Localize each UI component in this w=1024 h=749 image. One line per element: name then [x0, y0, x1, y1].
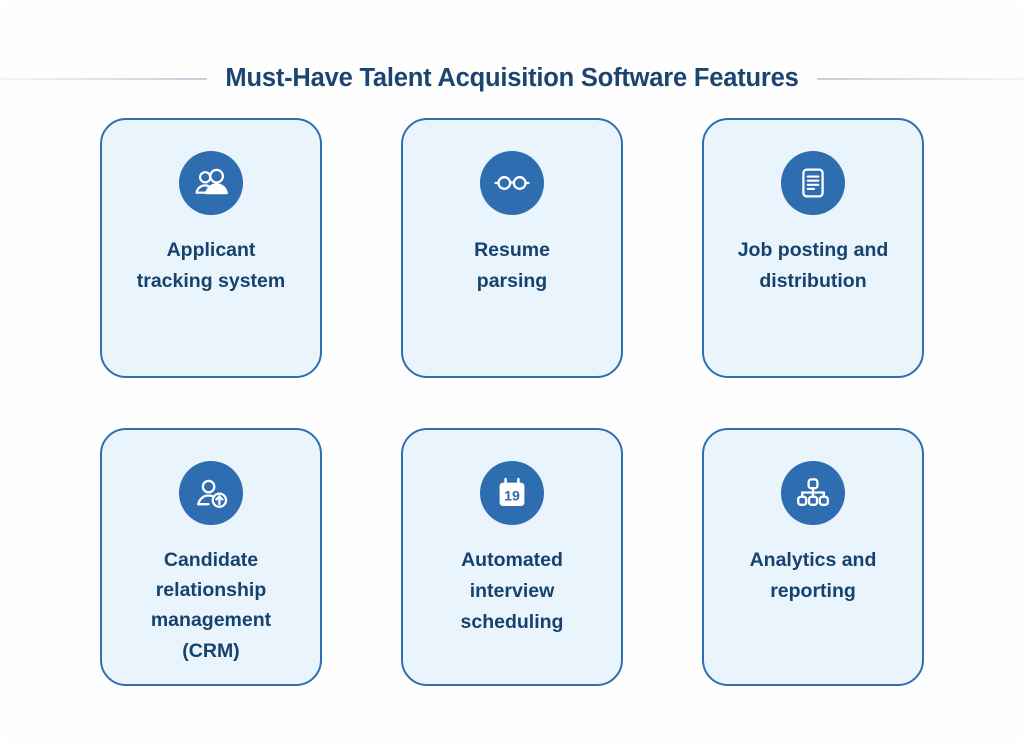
icon-badge [179, 461, 243, 525]
card-label: Resume parsing [466, 235, 558, 297]
feature-card-applicant-tracking-system[interactable]: Applicant tracking system [100, 118, 322, 378]
glasses-icon [492, 163, 532, 203]
icon-badge: 19 [480, 461, 544, 525]
feature-card-resume-parsing[interactable]: Resume parsing [401, 118, 623, 378]
header: Must-Have Talent Acquisition Software Fe… [0, 62, 1024, 96]
card-icon-wrap [781, 430, 845, 525]
infographic-page: Must-Have Talent Acquisition Software Fe… [0, 0, 1024, 749]
card-label: Candidate relationship management (CRM) [143, 545, 279, 666]
document-lines-icon [793, 163, 833, 203]
card-icon-wrap [179, 120, 243, 215]
card-label: Automated interview scheduling [453, 545, 572, 637]
org-chart-icon [793, 473, 833, 513]
icon-badge [179, 151, 243, 215]
card-label: Job posting and distribution [730, 235, 897, 297]
icon-badge [781, 461, 845, 525]
user-upload-icon [191, 473, 231, 513]
feature-card-automated-interview-scheduling[interactable]: 19 Automated interview scheduling [401, 428, 623, 686]
feature-card-grid: Applicant tracking system Resume parsing [100, 118, 924, 686]
icon-badge [781, 151, 845, 215]
feature-card-analytics-and-reporting[interactable]: Analytics and reporting [702, 428, 924, 686]
page-title: Must-Have Talent Acquisition Software Fe… [225, 66, 798, 92]
feature-card-candidate-relationship-management[interactable]: Candidate relationship management (CRM) [100, 428, 322, 686]
card-icon-wrap [179, 430, 243, 525]
card-icon-wrap [480, 120, 544, 215]
icon-badge [480, 151, 544, 215]
card-icon-wrap [781, 120, 845, 215]
card-label: Applicant tracking system [129, 235, 294, 297]
card-label: Analytics and reporting [742, 545, 885, 607]
feature-card-job-posting-and-distribution[interactable]: Job posting and distribution [702, 118, 924, 378]
calendar-day-text: 19 [504, 488, 520, 504]
header-divider-left [0, 78, 207, 80]
card-icon-wrap: 19 [480, 430, 544, 525]
users-group-icon [191, 163, 231, 203]
calendar-icon: 19 [492, 473, 532, 513]
header-divider-right [817, 78, 1024, 80]
